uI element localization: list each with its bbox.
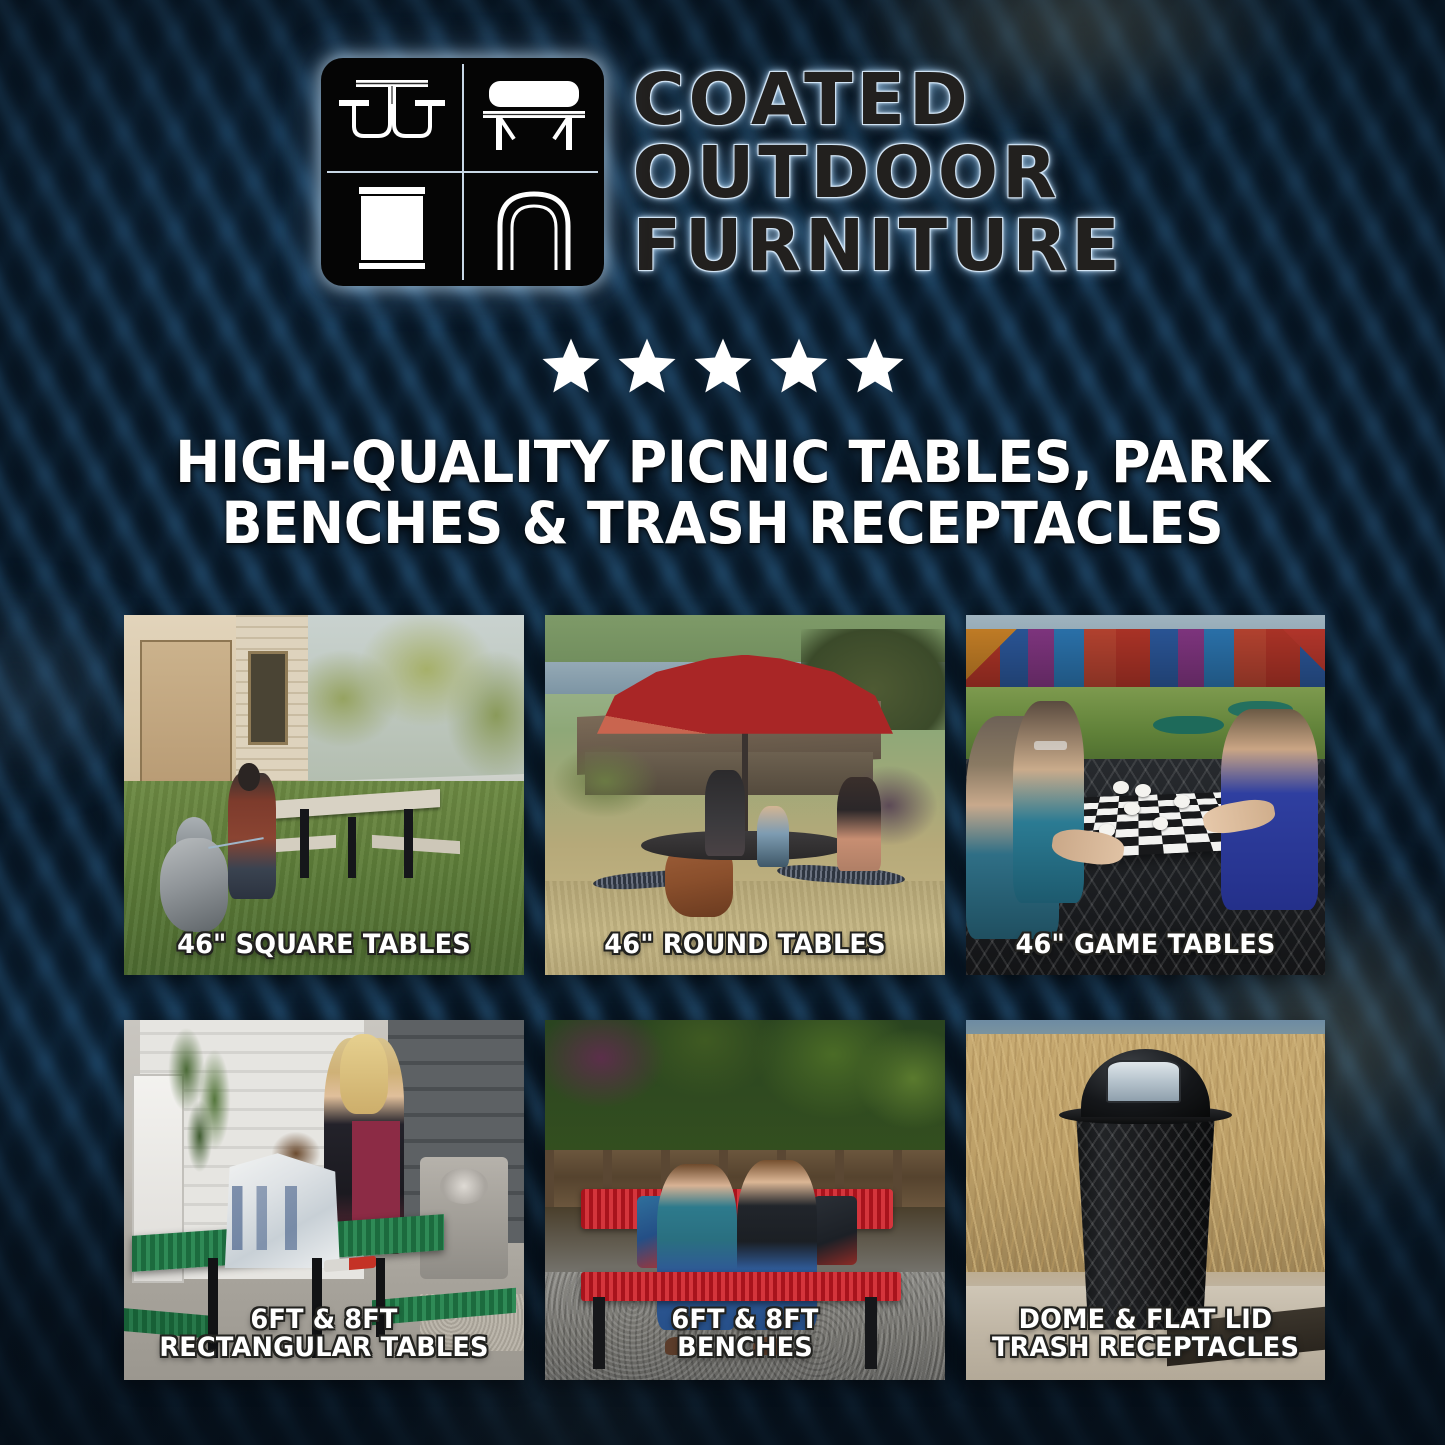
product-caption-square-tables: 46" SQUARE TABLES (134, 931, 514, 959)
star-icon-4 (768, 336, 830, 396)
logo-line-2: OUTDOOR (632, 137, 1123, 208)
caption-line-2: TRASH RECEPTACLES (975, 1334, 1316, 1362)
picnic-table-icon (321, 58, 463, 172)
product-photo-game-tables (966, 615, 1325, 975)
product-card-rectangular-tables[interactable]: 6FT & 8FT RECTANGULAR TABLES (124, 1020, 524, 1380)
product-card-round-tables[interactable]: 46" ROUND TABLES (545, 615, 945, 975)
product-caption-trash-receptacles: DOME & FLAT LID TRASH RECEPTACLES (975, 1306, 1316, 1362)
product-photo-square-tables (124, 615, 524, 975)
product-card-game-tables[interactable]: 46" GAME TABLES (966, 615, 1325, 975)
product-card-trash-receptacles[interactable]: DOME & FLAT LID TRASH RECEPTACLES (966, 1020, 1325, 1380)
logo-icon-grid (321, 58, 604, 286)
logo-grid-divider-horizontal (327, 171, 598, 173)
page-title: HIGH-QUALITY PICNIC TABLES, PARK BENCHES… (51, 432, 1395, 555)
caption-line-1: 6FT & 8FT (134, 1306, 514, 1334)
logo-line-1: COATED (632, 64, 1123, 135)
headline-line-1: HIGH-QUALITY PICNIC TABLES, PARK (116, 432, 1330, 493)
caption-line-1: 46" GAME TABLES (975, 931, 1316, 959)
brand-logo[interactable]: COATED OUTDOOR FURNITURE (0, 58, 1445, 286)
caption-line-1: 46" SQUARE TABLES (134, 931, 514, 959)
product-caption-benches: 6FT & 8FT BENCHES (555, 1306, 935, 1362)
star-icon-5 (844, 336, 906, 396)
product-photo-round-tables (545, 615, 945, 975)
caption-line-2: BENCHES (555, 1334, 935, 1362)
product-grid: 46" SQUARE TABLES 46" ROUND TABLES (124, 615, 1323, 1380)
product-card-benches[interactable]: 6FT & 8FT BENCHES (545, 1020, 945, 1380)
logo-wordmark: COATED OUTDOOR FURNITURE (632, 64, 1123, 281)
headline-line-2: BENCHES & TRASH RECEPTACLES (116, 493, 1330, 554)
trash-receptacle-icon (321, 172, 463, 286)
logo-line-3: FURNITURE (632, 210, 1123, 281)
product-card-square-tables[interactable]: 46" SQUARE TABLES (124, 615, 524, 975)
poster-content: COATED OUTDOOR FURNITURE HIGH-QUALITY PI… (0, 0, 1445, 1445)
bench-icon (463, 58, 605, 172)
star-rating (0, 336, 1445, 396)
bike-rack-icon (463, 172, 605, 286)
product-caption-rectangular-tables: 6FT & 8FT RECTANGULAR TABLES (134, 1306, 514, 1362)
product-caption-game-tables: 46" GAME TABLES (975, 931, 1316, 959)
caption-line-1: 46" ROUND TABLES (555, 931, 935, 959)
star-icon-2 (616, 336, 678, 396)
star-icon-1 (540, 336, 602, 396)
product-caption-round-tables: 46" ROUND TABLES (555, 931, 935, 959)
star-icon-3 (692, 336, 754, 396)
caption-line-2: RECTANGULAR TABLES (134, 1334, 514, 1362)
caption-line-1: DOME & FLAT LID (975, 1306, 1316, 1334)
caption-line-1: 6FT & 8FT (555, 1306, 935, 1334)
